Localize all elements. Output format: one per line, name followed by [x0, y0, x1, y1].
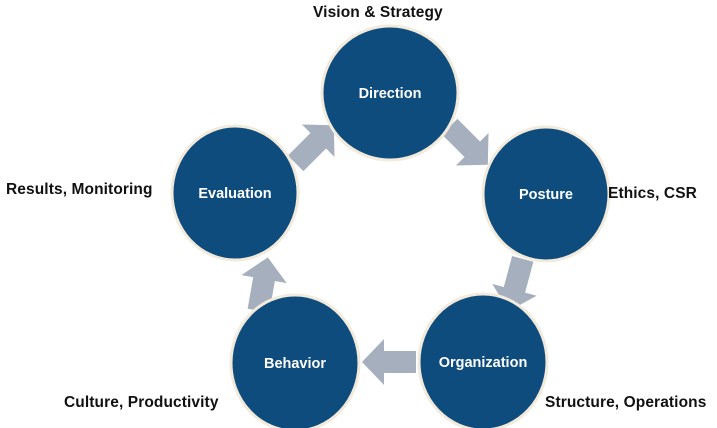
node-direction[interactable]: Direction [322, 26, 458, 160]
arrow-organization-to-behavior [362, 339, 416, 385]
node-posture-label: Posture [519, 187, 573, 203]
node-behavior[interactable]: Behavior [231, 295, 359, 428]
node-posture[interactable]: Posture [483, 127, 609, 261]
node-organization-label: Organization [439, 355, 528, 371]
node-evaluation[interactable]: Evaluation [172, 126, 298, 260]
node-direction-label: Direction [359, 86, 422, 102]
cycle-diagram-canvas: Direction Posture Organization Behavior … [0, 0, 717, 428]
node-behavior-label: Behavior [264, 356, 326, 372]
outer-label-vision-strategy: Vision & Strategy [313, 4, 443, 22]
node-organization[interactable]: Organization [419, 294, 547, 428]
node-evaluation-label: Evaluation [198, 186, 271, 202]
outer-label-structure-operations: Structure, Operations [545, 394, 706, 412]
outer-label-ethics-csr: Ethics, CSR [608, 185, 697, 203]
outer-label-results-monitoring: Results, Monitoring [6, 181, 153, 199]
outer-label-culture-productivity: Culture, Productivity [64, 394, 219, 412]
cycle-diagram: Direction Posture Organization Behavior … [0, 0, 717, 428]
arrow-shape [362, 339, 416, 385]
